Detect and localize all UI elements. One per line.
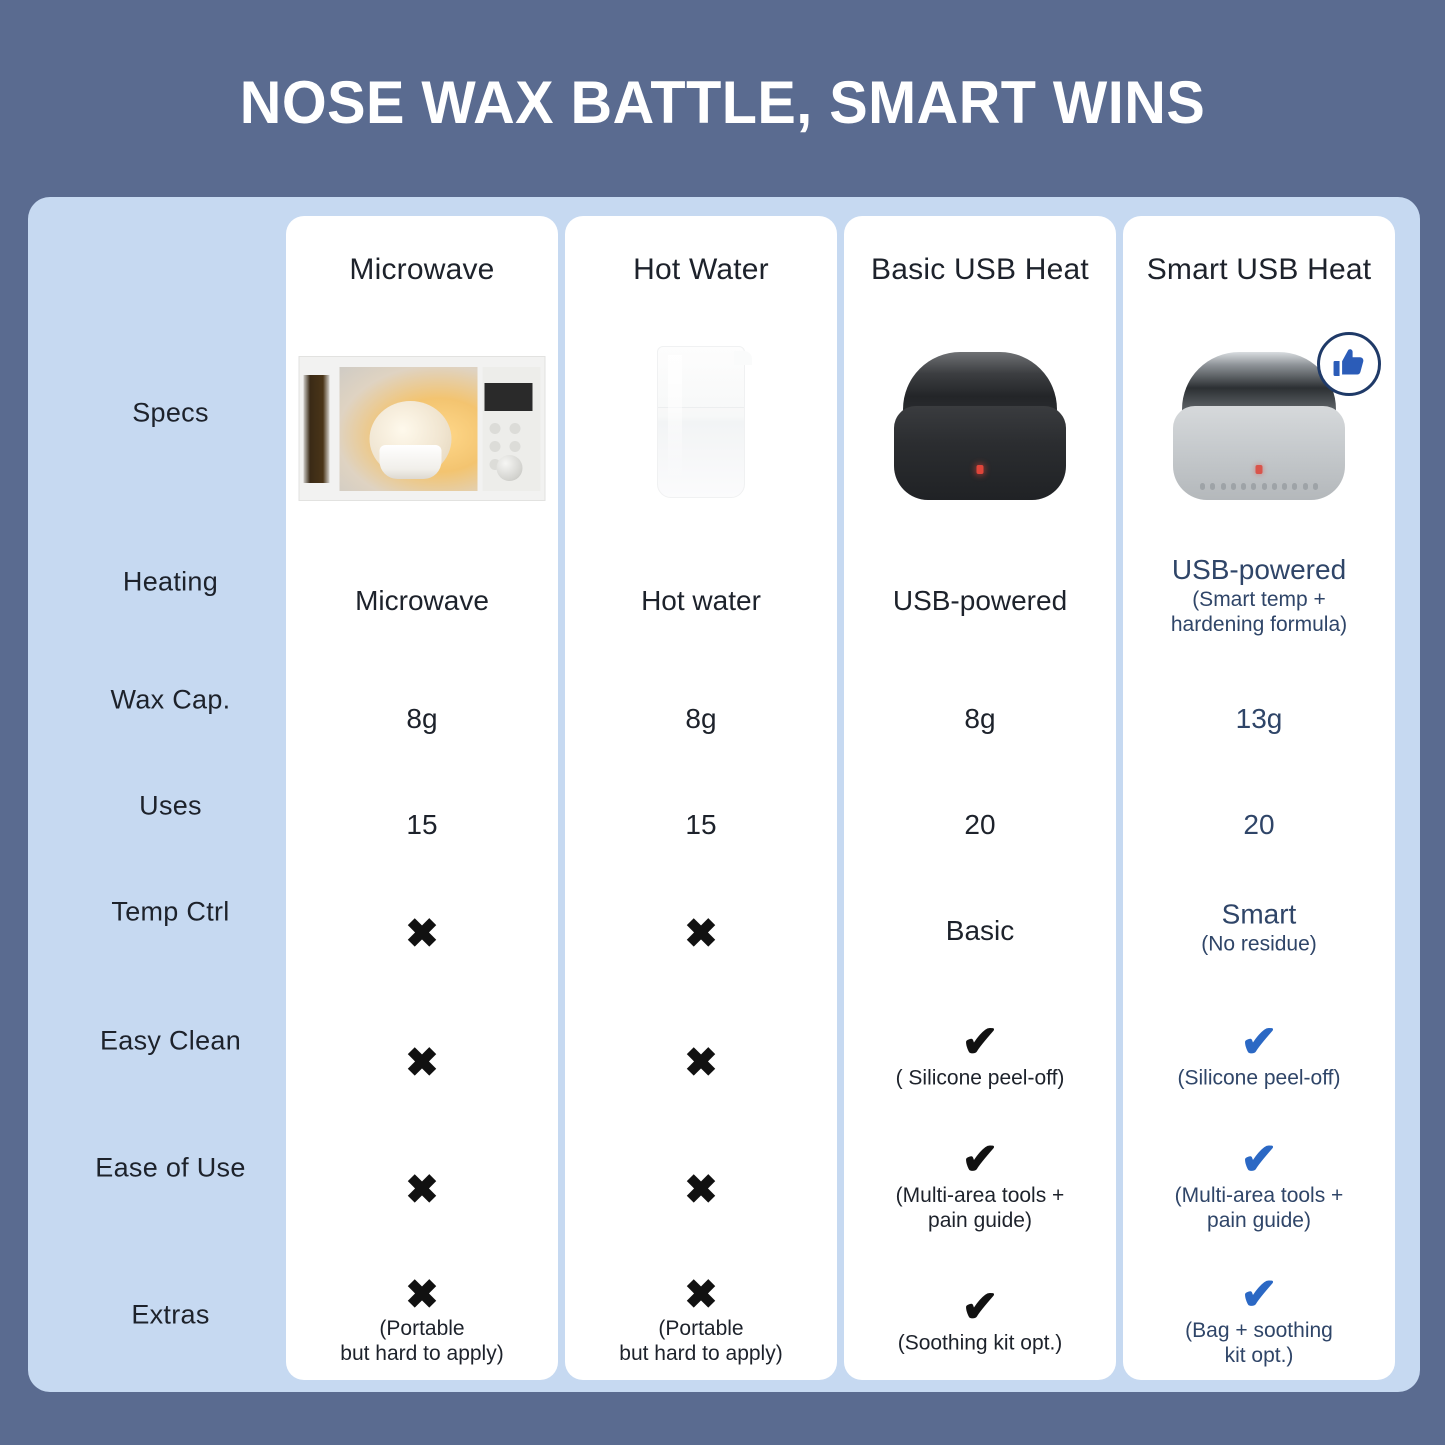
cell-heating-microwave: Microwave (286, 585, 558, 617)
led-indicator (1256, 465, 1263, 474)
check-icon: ✔ (844, 1021, 1116, 1065)
cell-ease-of-use-hot-water: ✖ (565, 1170, 837, 1210)
page-title: NOSE WAX BATTLE, SMART WINS (29, 68, 1416, 137)
cell-ease-of-use-smart-usb-heat: ✔ (Multi-area tools +pain guide) (1123, 1138, 1395, 1234)
cell-wax-cap-hot-water: 8g (565, 703, 837, 735)
cell-extras-hot-water: ✖ (Portablebut hard to apply) (565, 1275, 837, 1367)
cell-temp-ctrl-microwave: ✖ (286, 914, 558, 954)
cell-easy-clean-hot-water: ✖ (565, 1043, 837, 1083)
cell-extras-smart-usb-heat: ✔ (Bag + soothingkit opt.) (1123, 1273, 1395, 1369)
row-label-uses: Uses (28, 791, 313, 822)
cell-easy-clean-basic-usb-heat: ✔ ( Silicone peel-off) (844, 1021, 1116, 1092)
led-indicator (977, 465, 984, 474)
cross-icon: ✖ (286, 1170, 558, 1210)
comparison-chart-page: NOSE WAX BATTLE, SMART WINS Specs Heatin… (0, 0, 1445, 1445)
thumbs-up-icon (1331, 346, 1367, 382)
row-label-extras: Extras (28, 1300, 313, 1331)
check-icon: ✔ (1123, 1021, 1395, 1065)
cross-icon: ✖ (286, 1043, 558, 1083)
cell-uses-microwave: 15 (286, 809, 558, 841)
vent-slots (1200, 483, 1318, 490)
cell-uses-smart-usb-heat: 20 (1123, 809, 1395, 841)
cross-icon: ✖ (565, 1043, 837, 1083)
row-label-temp-ctrl: Temp Ctrl (28, 897, 313, 928)
row-label-wax-cap: Wax Cap. (28, 685, 313, 716)
check-icon: ✔ (1123, 1138, 1395, 1182)
column-title-smart-usb-heat: Smart USB Heat (1123, 253, 1395, 287)
column-microwave[interactable]: Microwave (286, 216, 558, 1380)
cell-heating-basic-usb-heat: USB-powered (844, 585, 1116, 617)
check-icon: ✔ (1123, 1273, 1395, 1317)
row-label-heating: Heating (28, 567, 313, 598)
cell-wax-cap-smart-usb-heat: 13g (1123, 703, 1395, 735)
cross-icon: ✖ (565, 1170, 837, 1210)
cell-temp-ctrl-hot-water: ✖ (565, 914, 837, 954)
cell-extras-microwave: ✖ (Portablebut hard to apply) (286, 1275, 558, 1367)
column-smart-usb-heat[interactable]: Smart USB Heat US (1123, 216, 1395, 1380)
cell-easy-clean-microwave: ✖ (286, 1043, 558, 1083)
cross-icon: ✖ (286, 914, 558, 954)
water-beaker-image (565, 328, 837, 528)
cell-heating-smart-usb-heat: USB-powered (Smart temp +hardening formu… (1123, 554, 1395, 638)
column-title-microwave: Microwave (286, 253, 558, 287)
cell-temp-ctrl-smart-usb-heat: Smart (No residue) (1123, 899, 1395, 958)
column-basic-usb-heat[interactable]: Basic USB Heat USB-powered 8g 20 Basic (844, 216, 1116, 1380)
check-icon: ✔ (844, 1138, 1116, 1182)
comparison-panel: Specs Heating Wax Cap. Uses Temp Ctrl Ea… (28, 197, 1420, 1392)
row-label-specs: Specs (28, 398, 313, 429)
recommended-badge (1317, 332, 1381, 396)
cross-icon: ✖ (565, 1275, 837, 1315)
cell-temp-ctrl-basic-usb-heat: Basic (844, 915, 1116, 947)
cell-wax-cap-basic-usb-heat: 8g (844, 703, 1116, 735)
column-title-basic-usb-heat: Basic USB Heat (844, 253, 1116, 287)
cross-icon: ✖ (565, 914, 837, 954)
cell-extras-basic-usb-heat: ✔ (Soothing kit opt.) (844, 1286, 1116, 1357)
cell-ease-of-use-basic-usb-heat: ✔ (Multi-area tools +pain guide) (844, 1138, 1116, 1234)
cell-uses-hot-water: 15 (565, 809, 837, 841)
cell-ease-of-use-microwave: ✖ (286, 1170, 558, 1210)
row-label-easy-clean: Easy Clean (28, 1026, 313, 1057)
row-label-column: Specs Heating Wax Cap. Uses Temp Ctrl Ea… (28, 197, 313, 1392)
column-title-hot-water: Hot Water (565, 253, 837, 287)
cell-easy-clean-smart-usb-heat: ✔ (Silicone peel-off) (1123, 1021, 1395, 1092)
check-icon: ✔ (844, 1286, 1116, 1330)
cross-icon: ✖ (286, 1275, 558, 1315)
row-label-ease-of-use: Ease of Use (28, 1153, 313, 1184)
cell-wax-cap-microwave: 8g (286, 703, 558, 735)
column-hot-water[interactable]: Hot Water Hot water 8g 15 ✖ ✖ (565, 216, 837, 1380)
microwave-image (286, 328, 558, 528)
cell-uses-basic-usb-heat: 20 (844, 809, 1116, 841)
basic-usb-heater-image (844, 328, 1116, 528)
cell-heating-hot-water: Hot water (565, 585, 837, 617)
smart-usb-heater-image (1123, 328, 1395, 528)
